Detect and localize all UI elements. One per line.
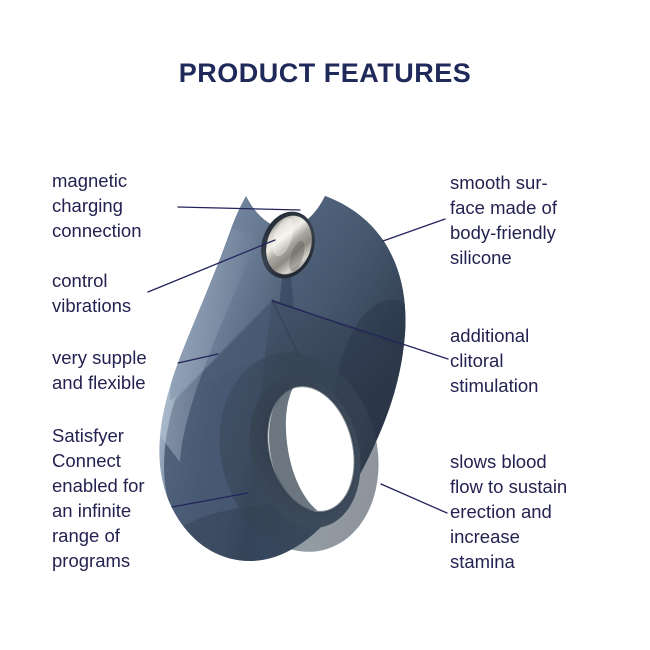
callout-very-supple-and-flexible: very supple and flexible	[52, 345, 147, 395]
callout-magnetic-charging-connection: magnetic charging connection	[52, 168, 141, 243]
product-features-infographic: PRODUCT FEATURES	[0, 0, 650, 650]
callout-slows-blood-flow: slows blood flow to sustain erection and…	[450, 449, 567, 574]
callout-control-vibrations: control vibrations	[52, 268, 131, 318]
callout-additional-clitoral-stimulation: additional clitoral stimulation	[450, 323, 538, 398]
callout-satisfyer-connect: Satisfyer Connect enabled for an infinit…	[52, 423, 145, 573]
callout-smooth-surface-silicone: smooth sur- face made of body-friendly s…	[450, 170, 557, 270]
